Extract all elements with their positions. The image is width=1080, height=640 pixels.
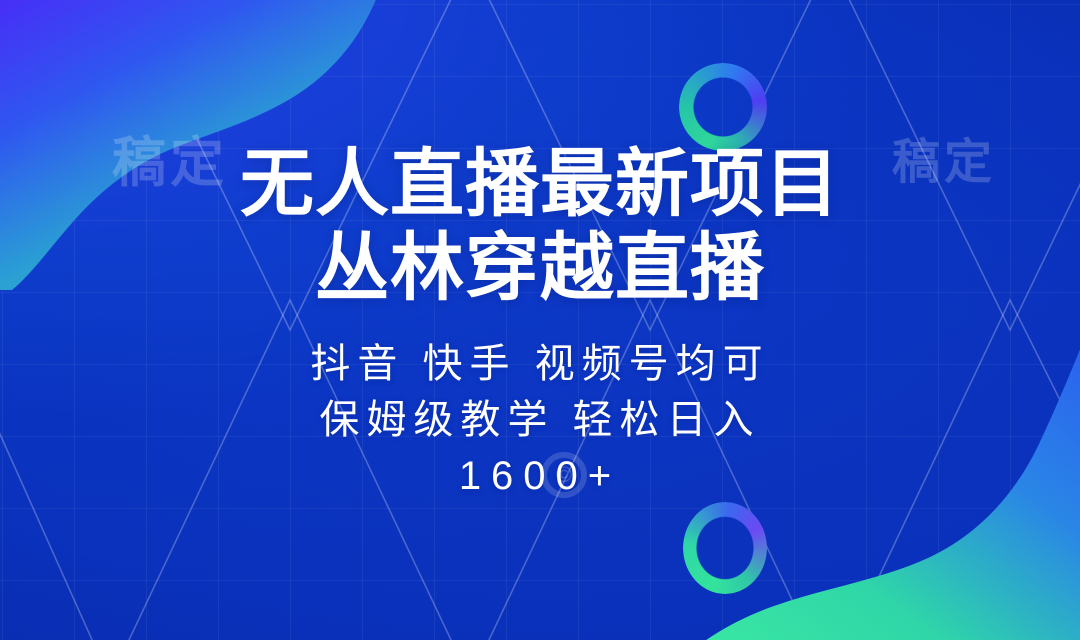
- watermark-right: 稿定: [892, 122, 996, 192]
- poster-canvas: 稿定 稿定 © 无人直播最新项目 丛林穿越直播 抖音 快手 视频号均可 保姆级教…: [0, 0, 1080, 640]
- ring-top-decoration: [679, 63, 767, 151]
- copyright-watermark-icon: ©: [541, 452, 587, 498]
- watermark-left: 稿定: [112, 118, 228, 197]
- blob-bottomright-decoration: [670, 330, 1080, 640]
- ring-bottom-decoration: [683, 502, 767, 594]
